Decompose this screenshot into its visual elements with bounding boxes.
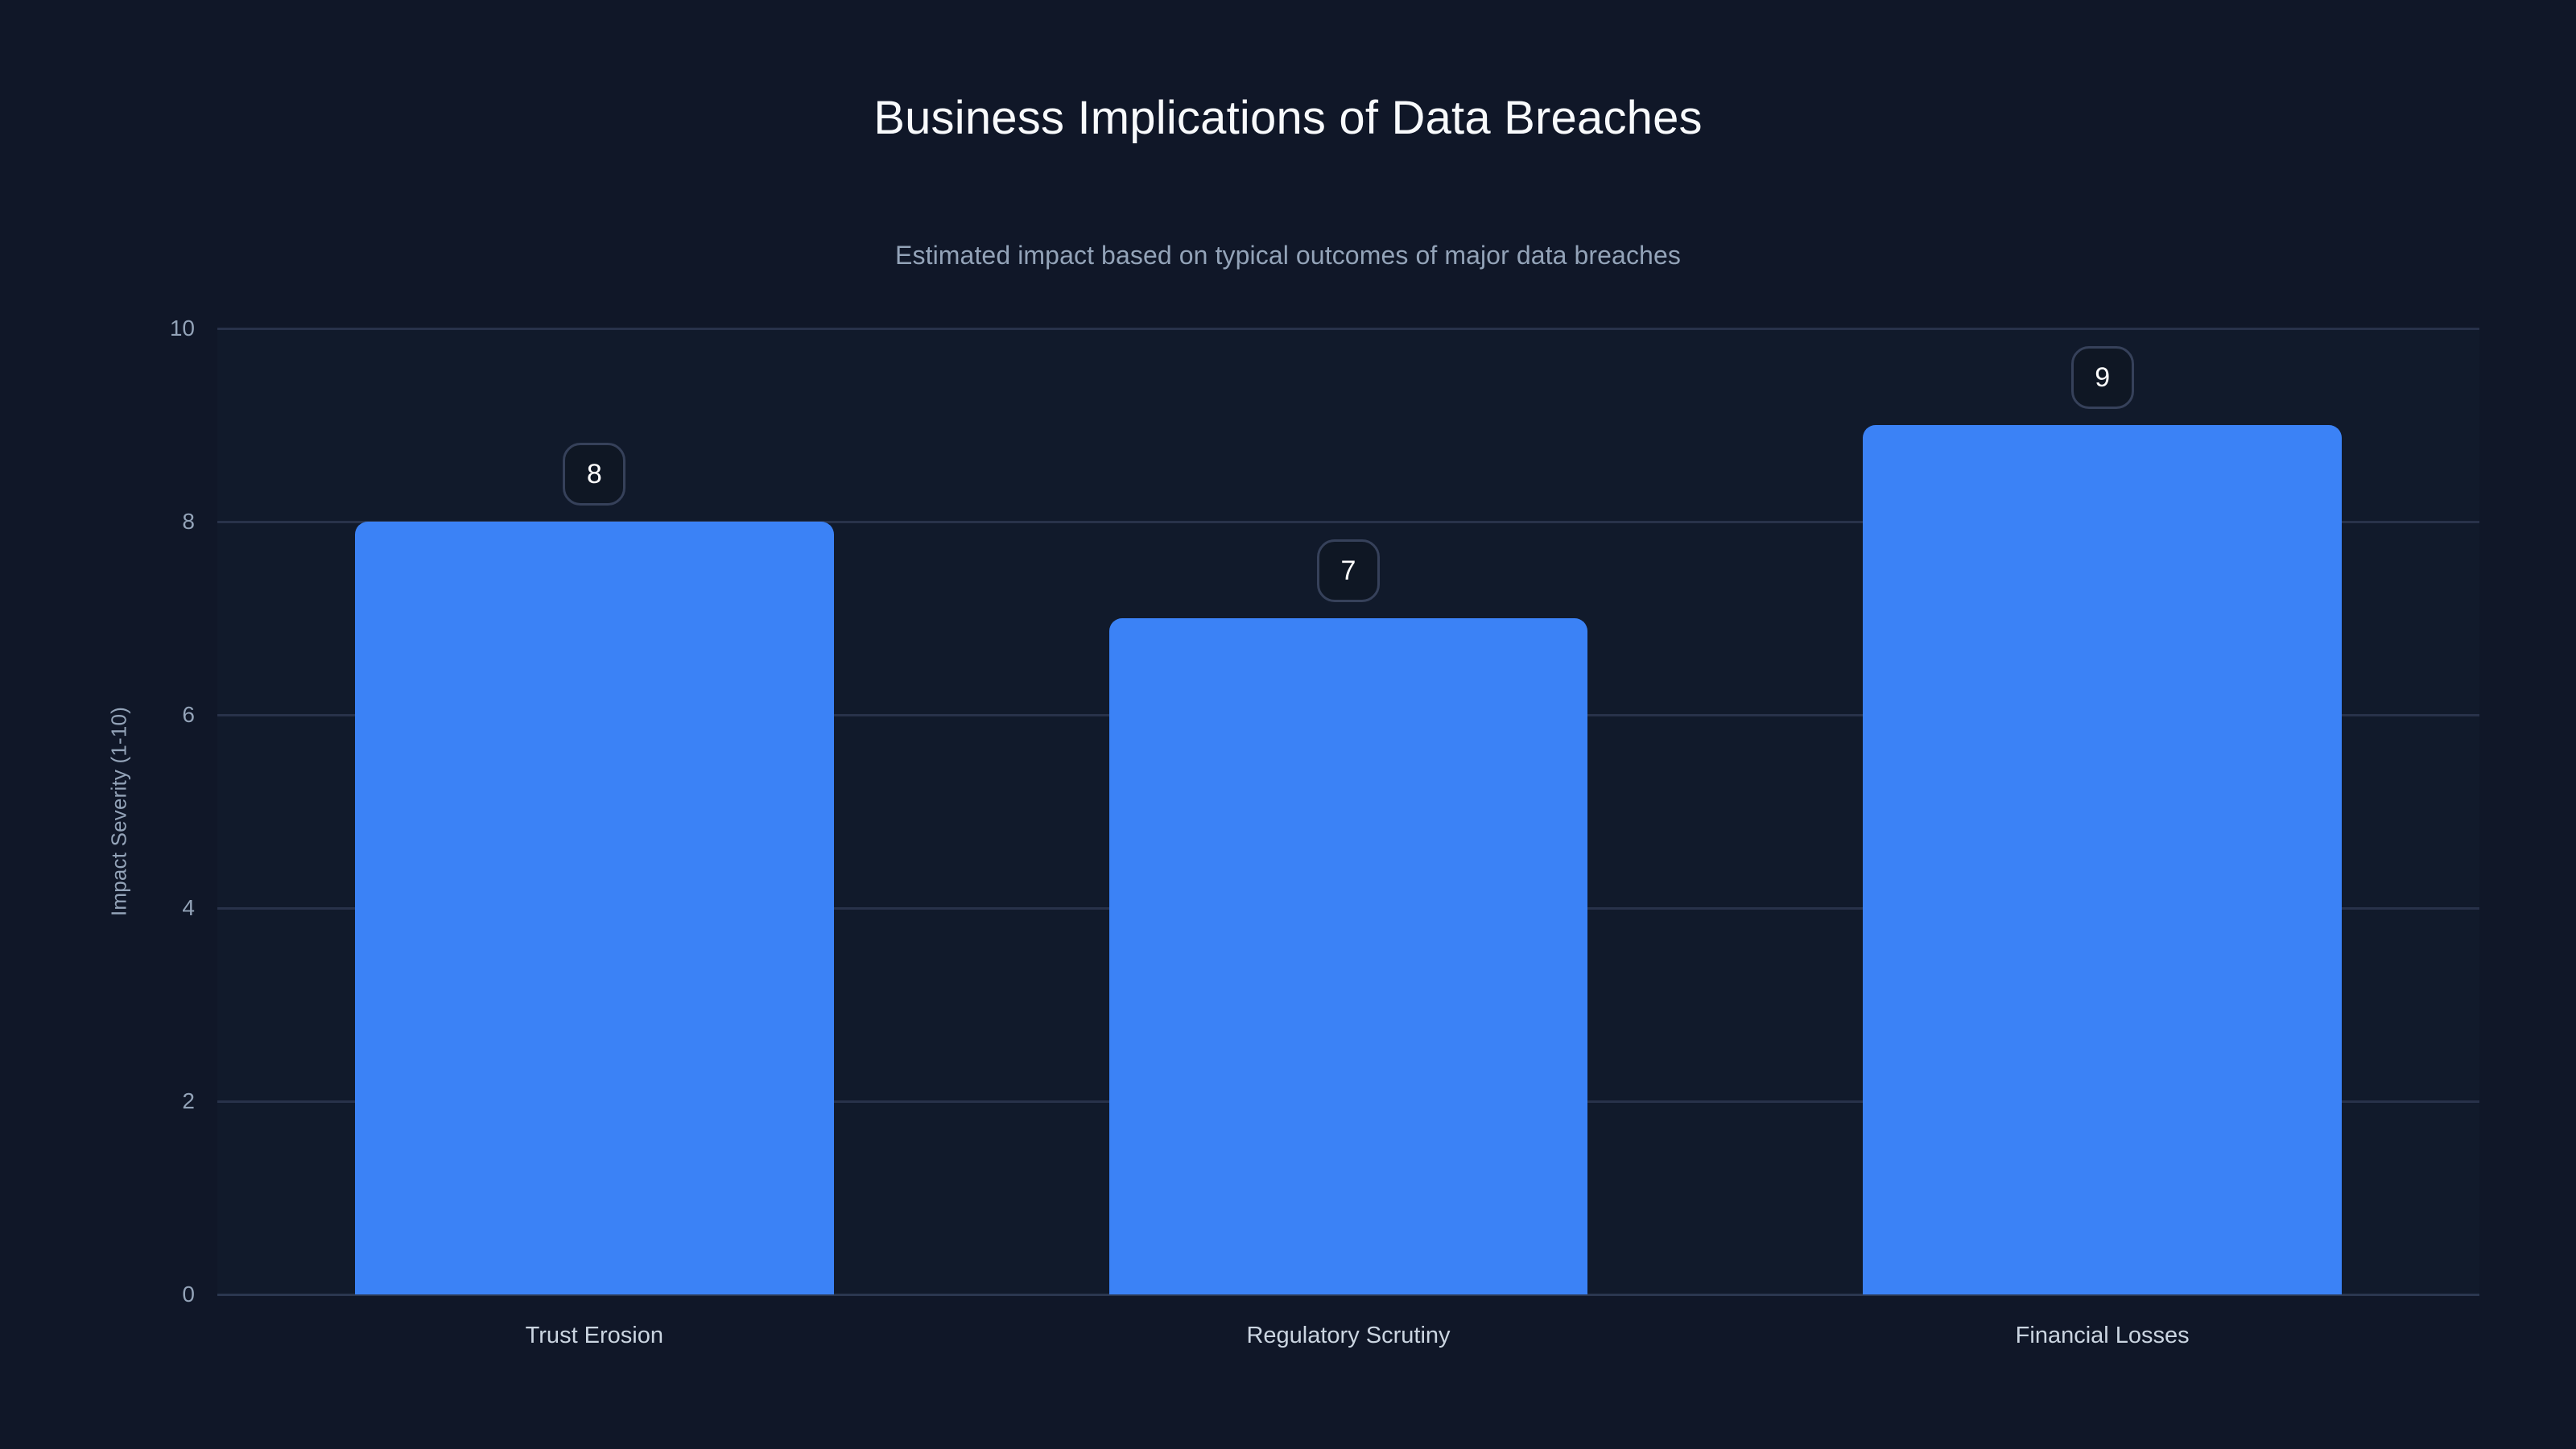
plot-area [217,328,2479,1294]
x-axis-tick-label: Trust Erosion [526,1324,663,1348]
chart-title: Business Implications of Data Breaches [0,93,2576,144]
bar-value-badge: 9 [2071,346,2134,409]
bar[interactable] [355,522,834,1294]
y-axis-tick-label: 4 [182,897,195,919]
bar-value-badge: 7 [1317,539,1380,602]
bar[interactable] [1863,425,2342,1294]
bar[interactable] [1109,618,1588,1294]
y-axis-tick-label: 2 [182,1090,195,1113]
bar-value-badge: 8 [563,443,625,506]
chart-figure: Business Implications of Data Breaches E… [0,0,2576,1449]
y-axis-tick-label: 10 [170,317,195,340]
y-axis-tick-label: 8 [182,510,195,533]
gridline [217,328,2479,330]
x-axis-tick-label: Financial Losses [2016,1324,2190,1348]
y-axis-tick-labels: 0246810 [0,0,217,1449]
chart-subtitle: Estimated impact based on typical outcom… [0,242,2576,270]
x-axis-tick-label: Regulatory Scrutiny [1246,1324,1450,1348]
y-axis-tick-label: 6 [182,704,195,726]
y-axis-tick-label: 0 [182,1283,195,1306]
